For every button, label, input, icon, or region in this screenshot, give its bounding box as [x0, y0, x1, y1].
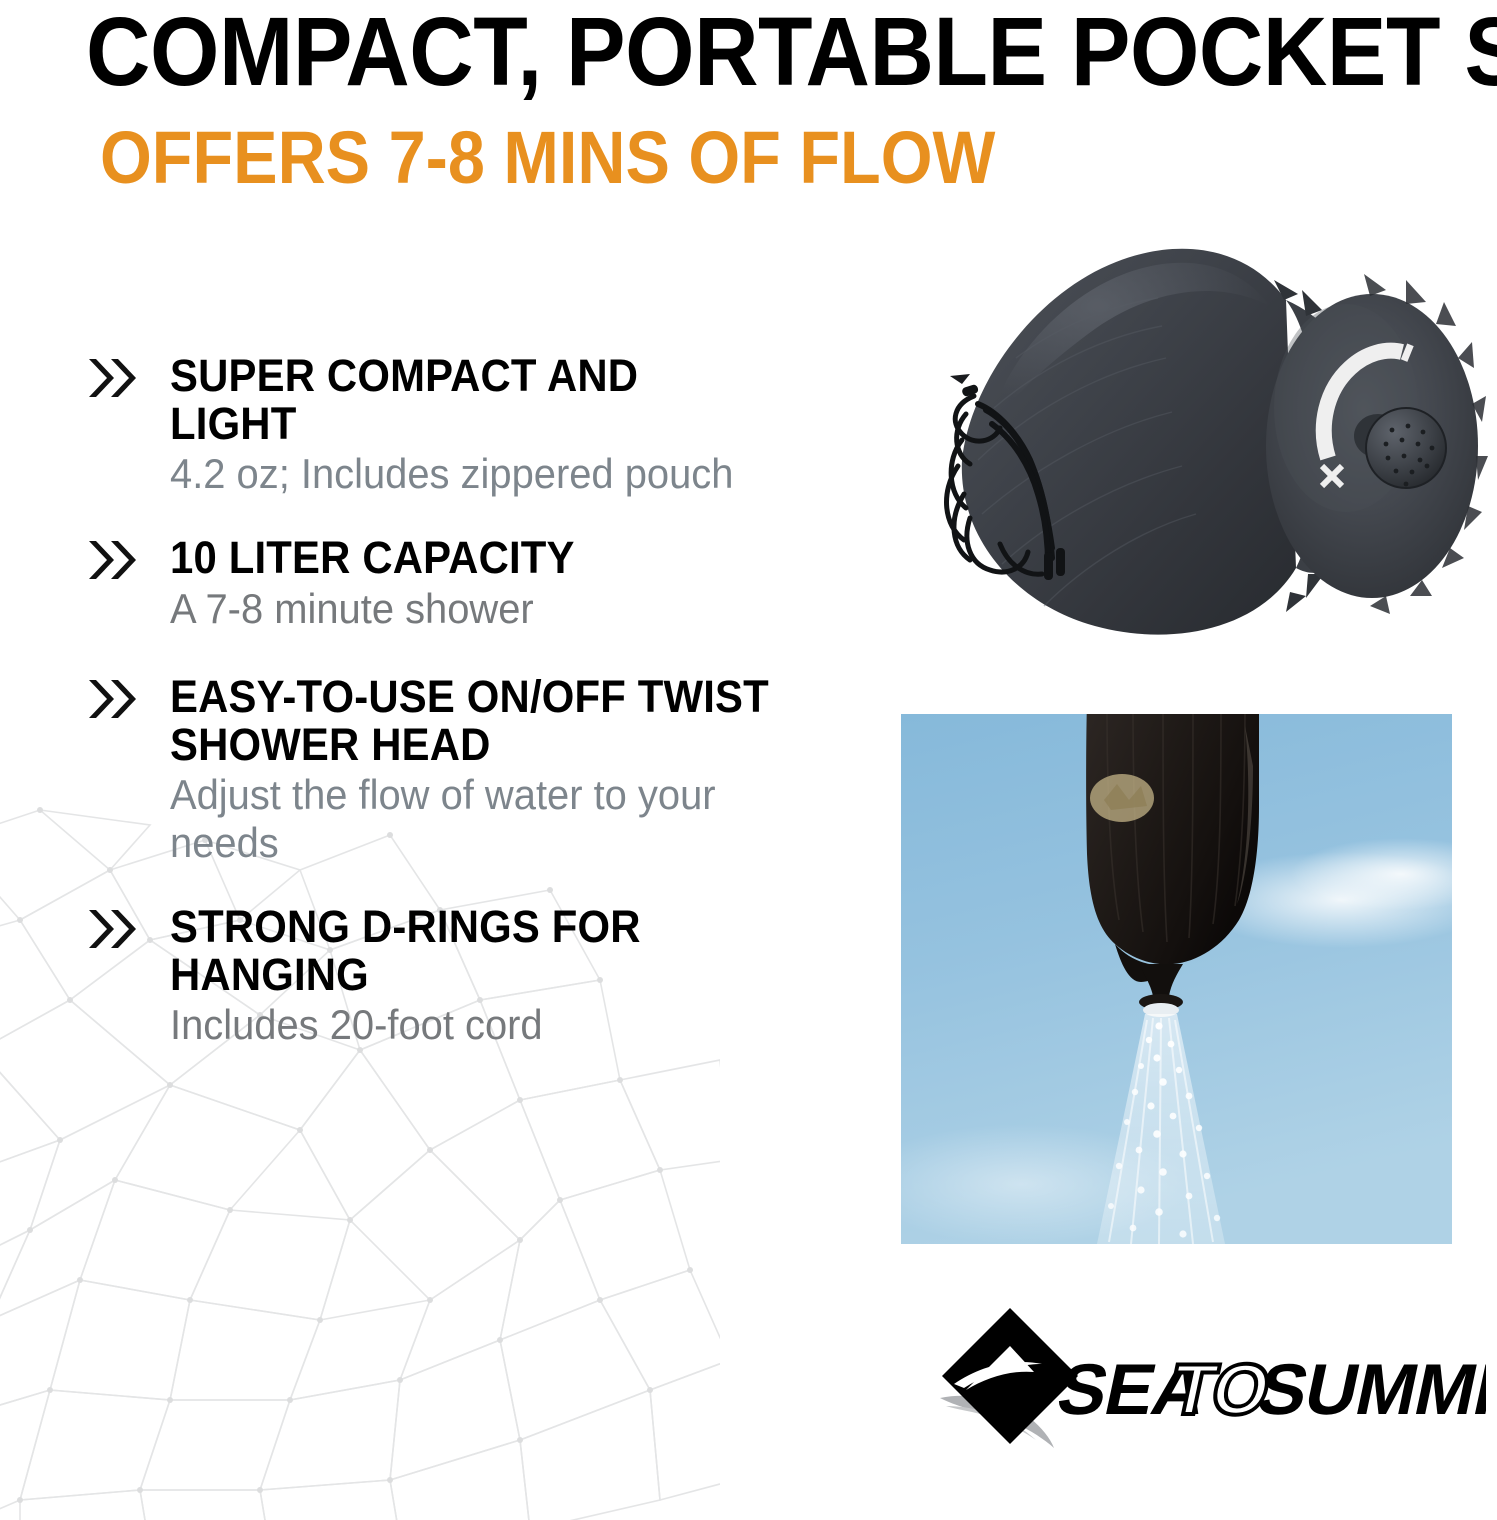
- infographic-page: COMPACT, PORTABLE POCKET SHOWER OFFERS 7…: [0, 0, 1497, 1497]
- shower-in-use-photo: [901, 714, 1452, 1244]
- feature-description: Adjust the flow of water to your needs: [170, 771, 782, 867]
- sea-to-summit-logo: SEA TO SUMMIT SEATOSUMMIT: [938, 1302, 1486, 1452]
- product-bag-photo: [866, 208, 1492, 668]
- double-chevron-icon: [86, 538, 140, 582]
- feature-title: STRONG D-RINGS FOR HANGING: [170, 903, 769, 998]
- brand-wordmark: SEATOSUMMIT: [938, 1452, 939, 1453]
- svg-text:SUMMIT: SUMMIT: [1251, 1350, 1486, 1430]
- feature-item-d-rings: STRONG D-RINGS FOR HANGING Includes 20-f…: [84, 903, 814, 1049]
- headline-block: COMPACT, PORTABLE POCKET SHOWER OFFERS 7…: [86, 4, 1486, 195]
- feature-item-capacity: 10 LITER CAPACITY A 7-8 minute shower: [84, 534, 814, 633]
- feature-description: A 7-8 minute shower: [170, 585, 782, 633]
- double-chevron-icon: [86, 907, 140, 951]
- feature-item-twist-shower-head: EASY-TO-USE ON/OFF TWIST SHOWER HEAD Adj…: [84, 673, 814, 867]
- double-chevron-icon: [86, 356, 140, 400]
- double-chevron-icon: [86, 677, 140, 721]
- feature-title: EASY-TO-USE ON/OFF TWIST SHOWER HEAD: [170, 673, 769, 768]
- feature-description: Includes 20-foot cord: [170, 1001, 782, 1049]
- feature-item-compact-light: SUPER COMPACT AND LIGHT 4.2 oz; Includes…: [84, 352, 814, 498]
- feature-list: SUPER COMPACT AND LIGHT 4.2 oz; Includes…: [84, 352, 814, 1077]
- feature-title: SUPER COMPACT AND LIGHT: [170, 352, 769, 447]
- page-title: COMPACT, PORTABLE POCKET SHOWER: [86, 4, 1374, 99]
- feature-description: 4.2 oz; Includes zippered pouch: [170, 450, 782, 498]
- feature-title: 10 LITER CAPACITY: [170, 534, 769, 582]
- page-subtitle: OFFERS 7-8 MINS OF FLOW: [100, 121, 1347, 195]
